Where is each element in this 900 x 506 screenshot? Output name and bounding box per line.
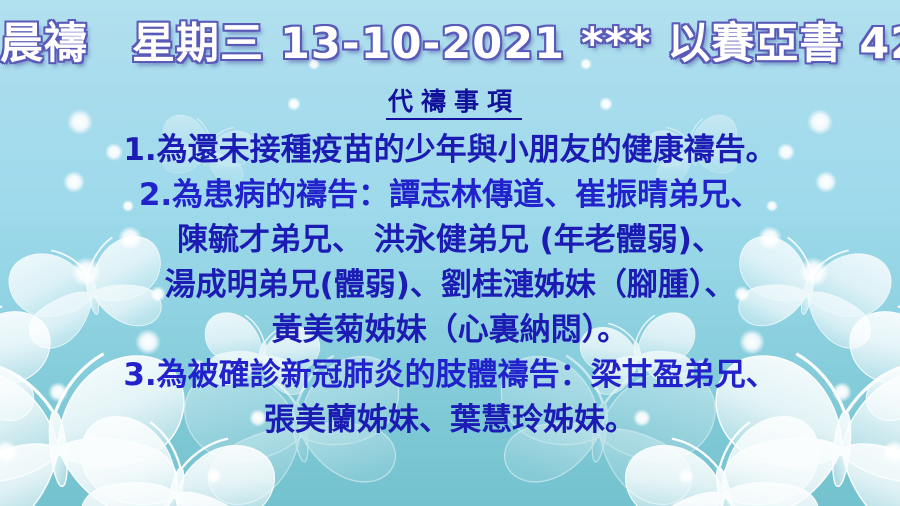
prayer-items-list: 1.為還未接種疫苗的少年與小朋友的健康禱告。 2.為患病的禱告：譚志林傳道、崔振… xyxy=(0,128,900,443)
slide-subtitle-text: 代禱事項 xyxy=(386,87,522,120)
prayer-line-6: 3.為被確診新冠肺炎的肢體禱告：梁甘盈弟兄、 xyxy=(0,353,900,398)
slide-title: 晨禱 星期三 13-10-2021 *** 以賽亞書 42 xyxy=(0,18,900,70)
prayer-line-5: 黃美菊姊妹（心裏納悶）。 xyxy=(0,308,900,353)
prayer-line-2: 2.為患病的禱告：譚志林傳道、崔振晴弟兄、 xyxy=(0,173,900,218)
prayer-line-1: 1.為還未接種疫苗的少年與小朋友的健康禱告。 xyxy=(0,128,900,173)
prayer-line-3: 陳毓才弟兄、 洪永健弟兄 (年老體弱)、 xyxy=(0,218,900,263)
prayer-line-7: 張美蘭姊妹、葉慧玲姊妹。 xyxy=(0,398,900,443)
prayer-slide: 晨禱 星期三 13-10-2021 *** 以賽亞書 42 代禱事項 1.為還未… xyxy=(0,0,900,506)
slide-subtitle: 代禱事項 xyxy=(0,86,900,118)
prayer-line-4: 湯成明弟兄(體弱)、劉桂漣姊妹（腳腫）、 xyxy=(0,263,900,308)
